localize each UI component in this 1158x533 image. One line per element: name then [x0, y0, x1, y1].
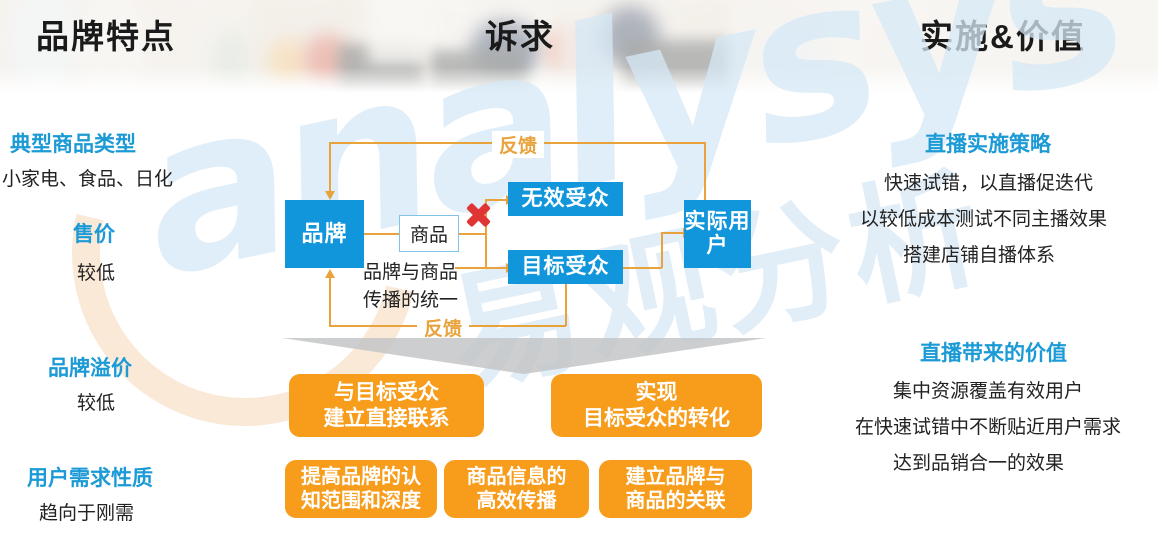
feedback-top-arrowhead: [325, 191, 335, 200]
feedback-bottom-label: 反馈: [417, 314, 469, 341]
goods-out-line: [456, 233, 486, 235]
branch-to-target-line: [485, 267, 507, 269]
outcome-box-5-line1: 建立品牌与: [626, 465, 726, 489]
right-heading-1: 直播实施策略: [925, 128, 1051, 158]
node-goods[interactable]: 商品: [399, 215, 459, 252]
feedback-top-left-vertical: [329, 142, 331, 192]
outcome-box-4-line2: 高效传播: [477, 489, 557, 513]
right-body-2-line-1: 集中资源覆盖有效用户: [893, 376, 1083, 403]
node-target-audience-label: 目标受众: [522, 255, 610, 279]
diagram-caption-line-2: 传播的统一: [363, 285, 458, 312]
outcome-box-2-line2: 目标受众的转化: [583, 406, 730, 431]
node-actual-user[interactable]: 实际用户: [684, 200, 751, 268]
outcome-box-4[interactable]: 商品信息的 高效传播: [444, 460, 589, 518]
brand-to-goods-line: [364, 233, 400, 235]
feedback-top-right-vertical: [704, 142, 706, 200]
node-invalid-audience[interactable]: 无效受众: [508, 182, 623, 216]
node-actual-user-label: 实际用户: [684, 210, 751, 257]
feedback-bottom-left-vertical: [329, 277, 331, 326]
outcome-box-4-line1: 商品信息的: [467, 465, 567, 489]
node-brand[interactable]: 品牌: [285, 200, 364, 268]
right-body-2-line-3: 达到品销合一的效果: [893, 448, 1064, 475]
outcome-box-5-line2: 商品的关联: [626, 489, 726, 513]
caption-branch-line: [455, 267, 487, 269]
outcome-box-5[interactable]: 建立品牌与 商品的关联: [599, 460, 752, 518]
outcome-box-3-line1: 提高品牌的认: [301, 465, 421, 489]
target-to-actual-h1: [623, 267, 662, 269]
red-cross-icon: [463, 200, 493, 230]
outcome-box-1-line2: 建立直接联系: [324, 406, 450, 431]
outcome-box-3-line2: 知范围和深度: [301, 489, 421, 513]
node-goods-label: 商品: [410, 220, 448, 247]
right-body-2-line-2: 在快速试错中不断贴近用户需求: [855, 412, 1121, 439]
outcome-box-1-line1: 与目标受众: [334, 380, 439, 405]
feedback-bottom-arrowhead: [325, 269, 335, 278]
outcome-box-1[interactable]: 与目标受众 建立直接联系: [289, 374, 484, 437]
right-heading-2: 直播带来的价值: [920, 337, 1067, 367]
outcome-box-2[interactable]: 实现 目标受众的转化: [551, 374, 762, 437]
outcome-box-3[interactable]: 提高品牌的认 知范围和深度: [285, 460, 437, 518]
node-invalid-audience-label: 无效受众: [522, 187, 610, 211]
node-brand-label: 品牌: [301, 222, 347, 247]
down-chevron-icon: [282, 338, 766, 374]
feedback-bottom-right-vertical: [565, 282, 567, 326]
right-body-1-line-3: 搭建店铺自播体系: [903, 240, 1055, 267]
node-target-audience[interactable]: 目标受众: [508, 250, 623, 284]
target-to-actual-v: [661, 232, 663, 268]
target-to-actual-h2: [661, 232, 684, 234]
right-body-1-line-2: 以较低成本测试不同主播效果: [860, 204, 1107, 231]
diagram-caption-line-1: 品牌与商品: [363, 257, 458, 284]
right-body-1-line-1: 快速试错，以直播促迭代: [884, 168, 1093, 195]
outcome-box-2-line1: 实现: [636, 380, 678, 405]
feedback-top-label: 反馈: [492, 131, 544, 158]
slide-canvas: 品牌特点 诉求 实施&价值 analysys 易观分析 典型商品类型 小家电、食…: [0, 0, 1158, 533]
